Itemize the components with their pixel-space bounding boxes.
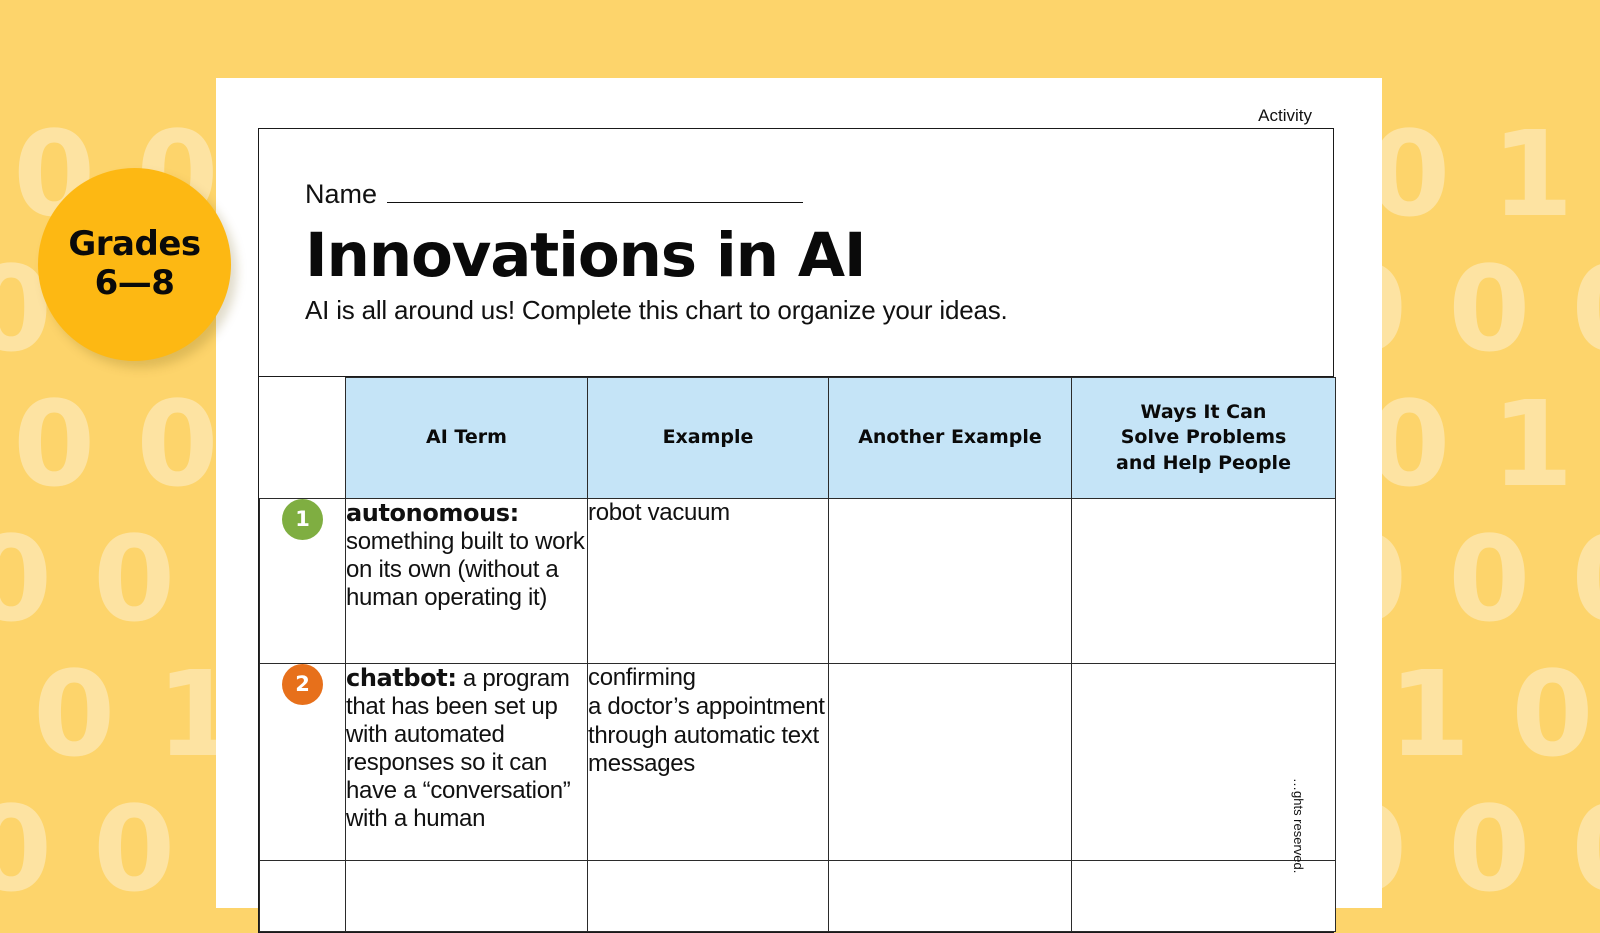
- row-ai-term-cell: autonomous: something built to work on i…: [346, 499, 588, 664]
- page-subtitle: AI is all around us! Complete this chart…: [305, 295, 1287, 326]
- row-number-cell: 2: [260, 664, 346, 861]
- row-ai-term-cell: chatbot: a program that has been set up …: [346, 664, 588, 861]
- row-ways-cell[interactable]: [1072, 499, 1336, 664]
- row-example-cell[interactable]: [588, 861, 829, 932]
- table-header-ways-it-can-solve-problems: Ways It Can Solve Problems and Help Peop…: [1072, 378, 1336, 499]
- ways-header-line-2: Solve Problems: [1080, 425, 1327, 450]
- grades-badge-line-2: 6—8: [95, 263, 175, 303]
- activity-tag-label: Activity: [1258, 106, 1312, 126]
- page-title: Innovations in AI: [305, 224, 1287, 287]
- ai-terms-chart-table: AI Term Example Another Example Ways It …: [259, 377, 1336, 932]
- table-row: [260, 861, 1336, 932]
- row-number-cell: 1: [260, 499, 346, 664]
- table-header-another-example: Another Example: [829, 378, 1072, 499]
- row-number-badge: 1: [282, 499, 323, 540]
- name-write-in-line[interactable]: [387, 201, 803, 203]
- ai-term-word: chatbot:: [346, 664, 457, 692]
- row-number-badge: 2: [282, 664, 323, 705]
- ways-header-line-1: Ways It Can: [1080, 400, 1327, 425]
- ai-term-word: autonomous:: [346, 499, 519, 527]
- row-another-example-cell[interactable]: [829, 664, 1072, 861]
- ways-header-line-3: and Help People: [1080, 451, 1327, 476]
- table-header-number-spacer: [260, 378, 346, 499]
- ai-term-definition: something built to work on its own (with…: [346, 528, 585, 611]
- row-example-cell[interactable]: confirming a doctor’s appointment throug…: [588, 664, 829, 861]
- row-number-cell: [260, 861, 346, 932]
- row-another-example-cell[interactable]: [829, 499, 1072, 664]
- table-row: 1 autonomous: something built to work on…: [260, 499, 1336, 664]
- name-field-row: Name: [305, 179, 1287, 210]
- table-header-ai-term: AI Term: [346, 378, 588, 499]
- grades-badge-line-1: Grades: [68, 226, 200, 263]
- worksheet-frame: Name Innovations in AI AI is all around …: [258, 128, 1334, 933]
- copyright-notice: …ghts reserved.: [1291, 778, 1306, 873]
- worksheet-page-sheet: Activity …ghts reserved. Name Innovation…: [216, 78, 1382, 908]
- worksheet-header-block: Name Innovations in AI AI is all around …: [259, 129, 1333, 377]
- grades-badge: Grades 6—8: [38, 168, 231, 361]
- name-label: Name: [305, 179, 377, 210]
- row-another-example-cell[interactable]: [829, 861, 1072, 932]
- row-ai-term-cell[interactable]: [346, 861, 588, 932]
- row-example-cell[interactable]: robot vacuum: [588, 499, 829, 664]
- table-row: 2 chatbot: a program that has been set u…: [260, 664, 1336, 861]
- table-header-row: AI Term Example Another Example Ways It …: [260, 378, 1336, 499]
- table-header-example: Example: [588, 378, 829, 499]
